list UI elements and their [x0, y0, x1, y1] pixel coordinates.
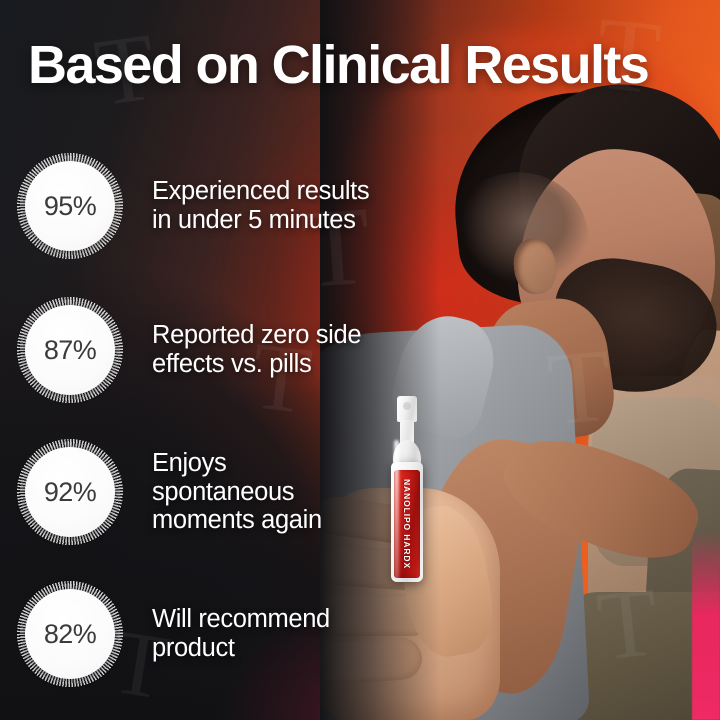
stat-item-will-recommend: 82% Will recommend product [16, 580, 330, 688]
gauge-disc: 95% [25, 161, 115, 251]
stat-label: Enjoys spontaneous moments again [152, 449, 322, 535]
product-name-text: NANOLIPO HARDX [402, 479, 412, 569]
gauge-disc: 92% [25, 447, 115, 537]
gauge-value: 87% [44, 335, 96, 366]
stat-item-spontaneous-moments: 92% Enjoys spontaneous moments again [16, 438, 322, 546]
stats-list: 95% Experienced results in under 5 minut… [0, 0, 720, 720]
stat-label: Will recommend product [152, 605, 330, 662]
gauge-87: 87% [16, 296, 124, 404]
gauge-value: 82% [44, 619, 96, 650]
stat-item-experienced-results: 95% Experienced results in under 5 minut… [16, 152, 369, 260]
stat-label: Experienced results in under 5 minutes [152, 177, 369, 234]
gauge-value: 95% [44, 191, 96, 222]
gauge-82: 82% [16, 580, 124, 688]
gauge-disc: 87% [25, 305, 115, 395]
gauge-95: 95% [16, 152, 124, 260]
gauge-92: 92% [16, 438, 124, 546]
stat-label: Reported zero side effects vs. pills [152, 321, 361, 378]
ampoule-cap [397, 396, 417, 422]
ampoule-highlight [394, 440, 399, 580]
advertisement-creative: T T T T T T T NANOLIPO HARDX Based on Cl… [0, 0, 720, 720]
product-ampoule[interactable]: NANOLIPO HARDX [388, 396, 426, 582]
gauge-disc: 82% [25, 589, 115, 679]
gauge-value: 92% [44, 477, 96, 508]
stat-item-zero-side-effects: 87% Reported zero side effects vs. pills [16, 296, 361, 404]
